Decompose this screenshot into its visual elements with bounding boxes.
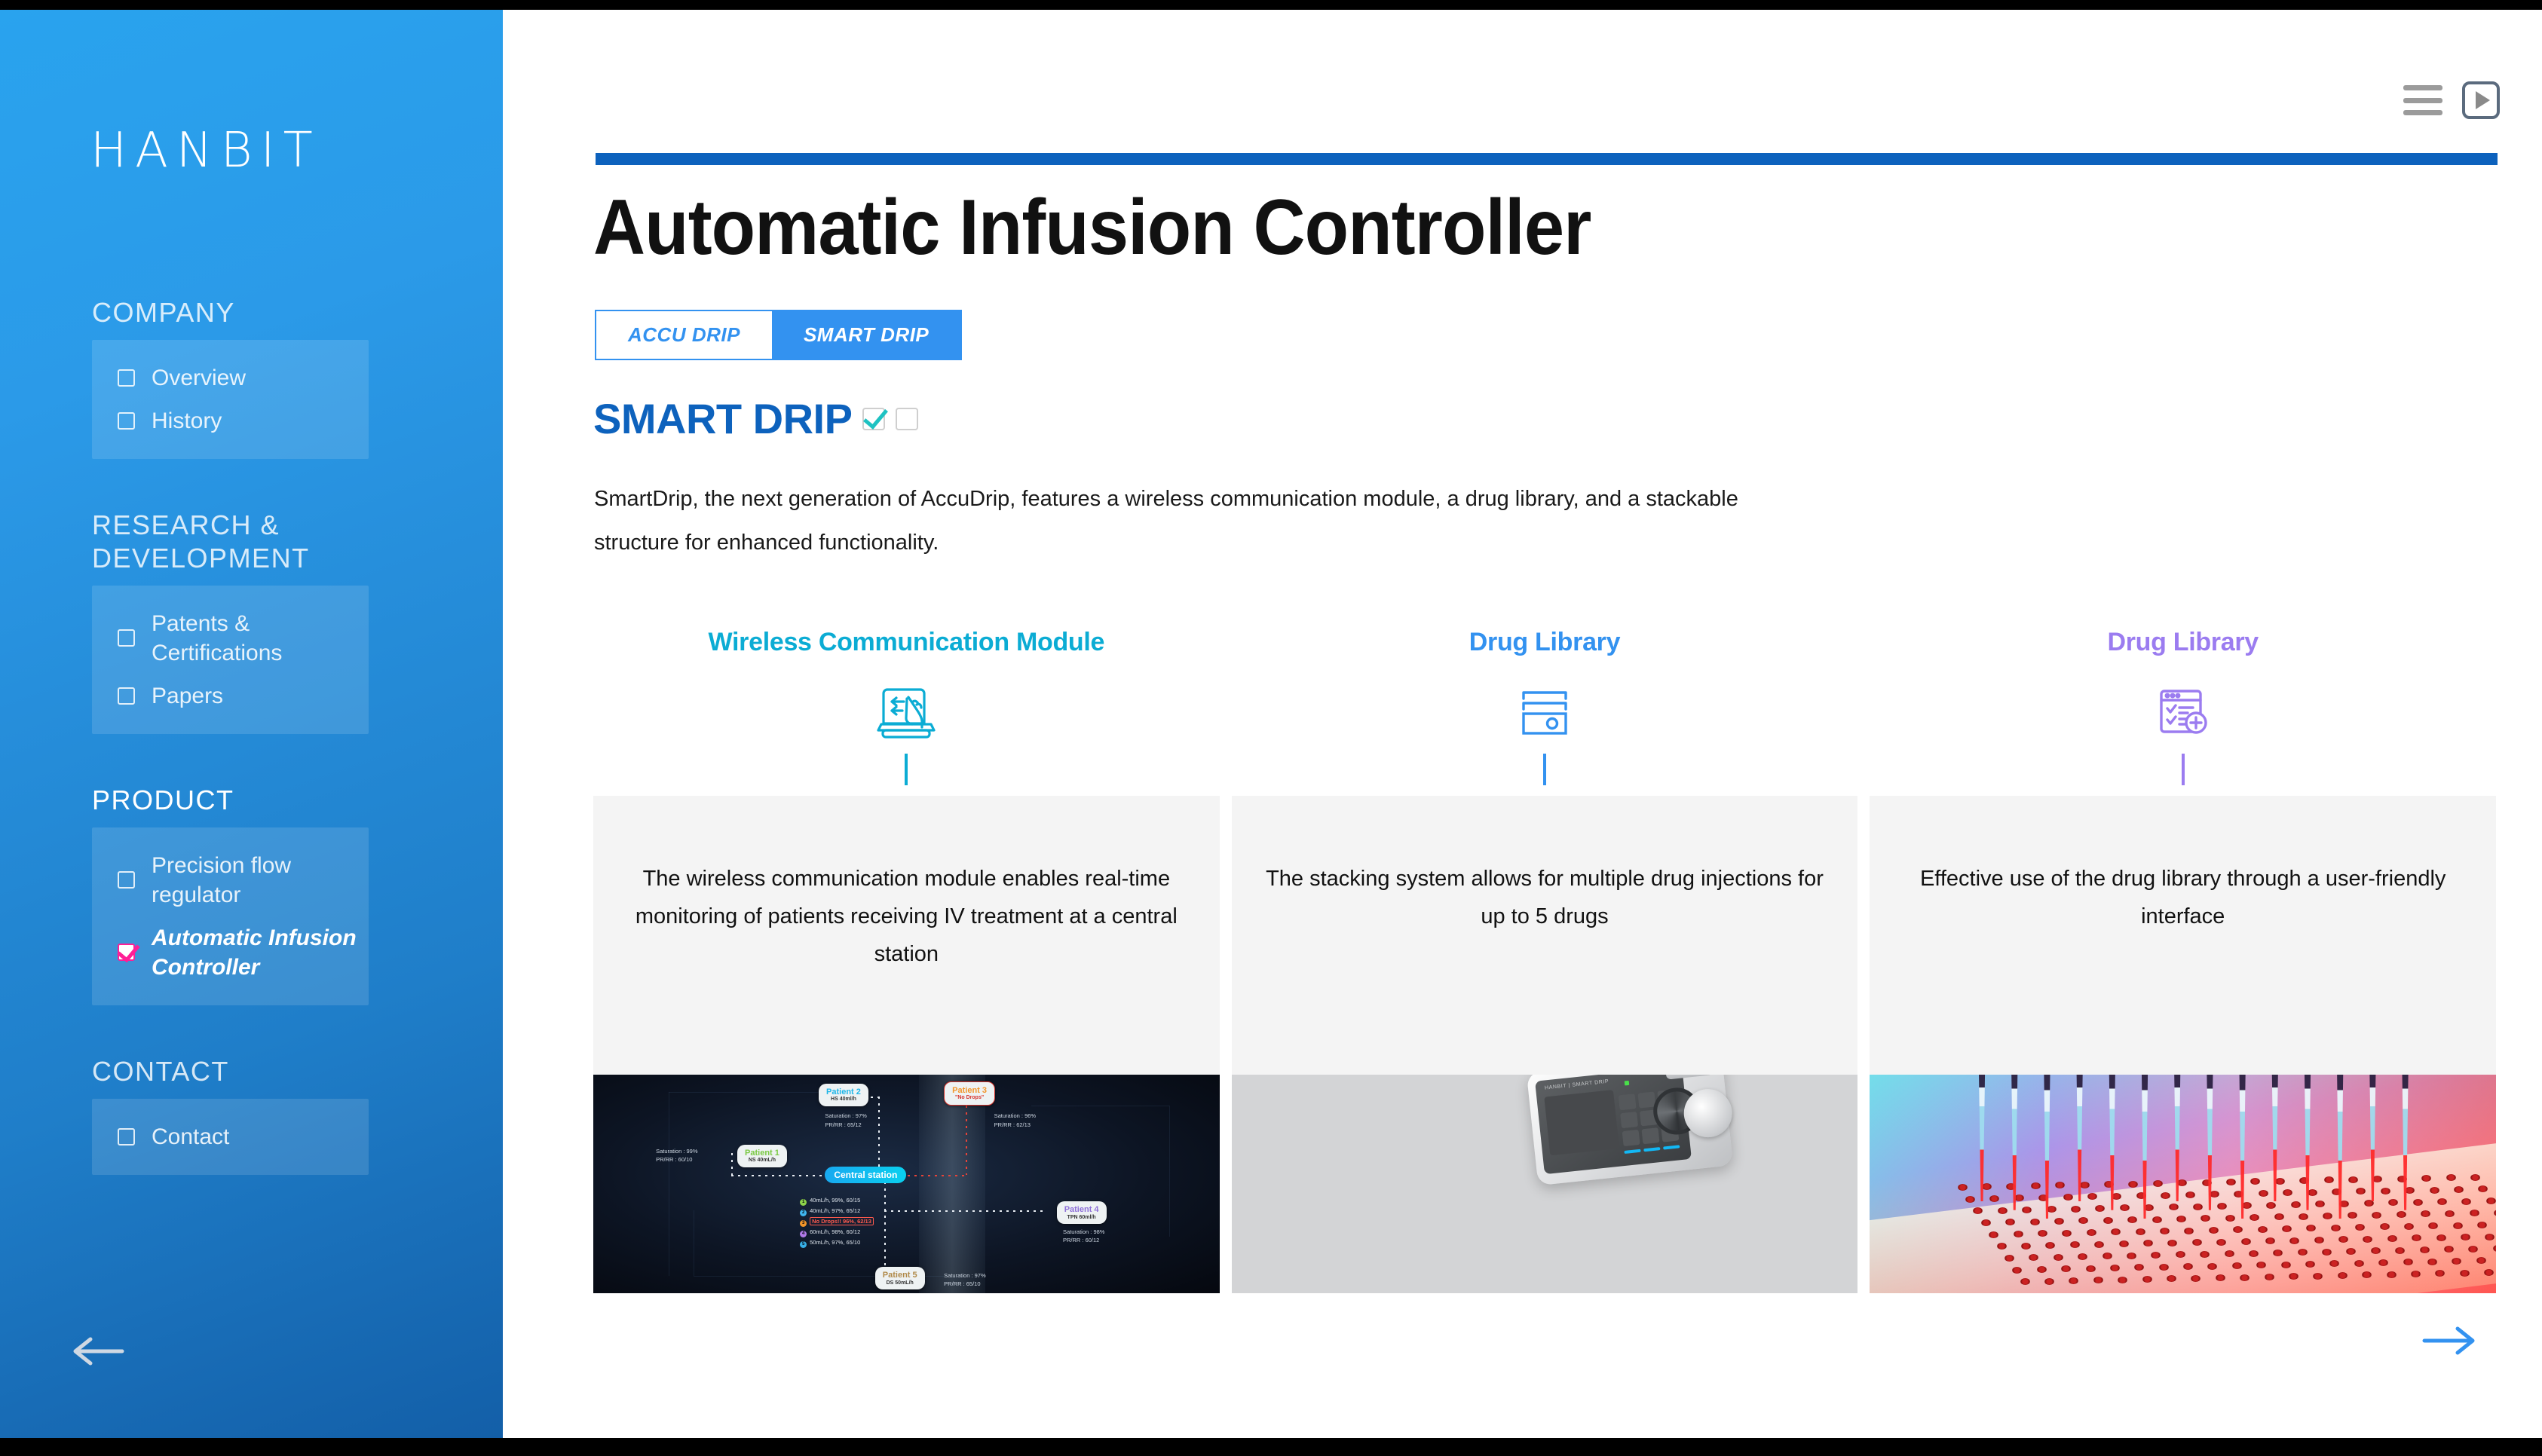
checkbox-checked-icon <box>118 944 135 961</box>
main-content: Automatic Infusion Controller ACCU DRIP … <box>503 10 2542 1438</box>
section-description: SmartDrip, the next generation of AccuDr… <box>594 477 1770 564</box>
sidebar-item-patents-certifications[interactable]: Patents & Certifications <box>92 602 369 674</box>
feature-title: Wireless Communication Module <box>709 628 1105 657</box>
sidebar-item-contact[interactable]: Contact <box>92 1115 369 1158</box>
sidebar-item-overview[interactable]: Overview <box>92 356 369 399</box>
nav-group-product: PRODUCT Precision flow regulator Automat… <box>0 784 503 1005</box>
section-title: SMART DRIP <box>593 394 852 443</box>
patient-node: Patient 1 NS 40mL/h <box>737 1145 787 1167</box>
feature-body: The wireless communication module enable… <box>593 796 1220 974</box>
section-header: SMART DRIP <box>593 394 918 443</box>
play-button-icon[interactable] <box>2462 81 2500 119</box>
connector-line <box>905 754 908 785</box>
stacked-infusion-devices-photo: HANBIT | SMART DRIP HANBIT | SMART DRIP <box>1232 1075 1858 1293</box>
sidebar-item-label: Automatic Infusion Controller <box>152 923 369 982</box>
checkbox-icon <box>896 408 918 430</box>
feature-column-drug-library: Drug Library Effective use of the drug l… <box>1870 628 2496 1293</box>
feature-body: Effective use of the drug library throug… <box>1870 796 2496 936</box>
nav-items-product: Precision flow regulator Automatic Infus… <box>92 827 369 1005</box>
product-tabs: ACCU DRIP SMART DRIP <box>595 310 962 360</box>
patient-node: Patient 2 HS 40ml/h <box>819 1084 868 1106</box>
sidebar-item-automatic-infusion-controller[interactable]: Automatic Infusion Controller <box>92 916 369 989</box>
stacked-layers-icon <box>1518 680 1572 743</box>
checkbox-icon <box>118 1128 135 1146</box>
feature-column-stacking: Drug Library The stacking system allows … <box>1232 628 1858 1293</box>
checkbox-icon <box>118 412 135 430</box>
slide-viewport: HANBIT COMPANY Overview History RES <box>0 0 2542 1456</box>
checkbox-icon <box>118 629 135 647</box>
title-accent-rule <box>596 153 2498 165</box>
feature-column-wireless: Wireless Communication Module <box>593 628 1220 1293</box>
nav-heading-company: COMPANY <box>0 296 503 340</box>
connector-line <box>2182 754 2185 785</box>
sidebar-item-history[interactable]: History <box>92 399 369 442</box>
nav-group-contact: CONTACT Contact <box>0 1055 503 1175</box>
checklist-add-icon <box>2154 680 2213 743</box>
laptop-touch-icon <box>874 680 939 743</box>
tab-smart-drip[interactable]: SMART DRIP <box>772 311 960 359</box>
hub-label: Central station <box>825 1167 906 1183</box>
nav-heading-contact: CONTACT <box>0 1055 503 1099</box>
checkbox-icon <box>118 687 135 705</box>
nav-items-contact: Contact <box>92 1099 369 1175</box>
nav-heading-product: PRODUCT <box>0 784 503 827</box>
brand-logo: HANBIT <box>90 123 321 179</box>
sidebar-item-label: History <box>152 406 222 436</box>
sidebar-item-label: Overview <box>152 363 246 393</box>
diagram-legend: 140mL/h, 99%, 60/15 240mL/h, 97%, 65/12 … <box>800 1195 874 1248</box>
top-toolbar <box>2403 81 2500 119</box>
sidebar: HANBIT COMPANY Overview History RES <box>0 10 503 1438</box>
checkbox-icon <box>118 369 135 387</box>
checkbox-checked-icon <box>862 408 885 430</box>
nav-items-company: Overview History <box>92 340 369 459</box>
feature-title: Drug Library <box>1469 628 1620 657</box>
feature-columns: Wireless Communication Module <box>593 628 2496 1293</box>
sidebar-item-precision-flow-regulator[interactable]: Precision flow regulator <box>92 844 369 916</box>
feature-card: The wireless communication module enable… <box>593 796 1220 1293</box>
central-station-network-diagram: Central station Patient 1 NS 40mL/h Satu… <box>593 1075 1220 1293</box>
hamburger-menu-icon[interactable] <box>2403 85 2442 115</box>
patient-node: Patient 3 "No Drops" <box>944 1081 995 1106</box>
patient-node: Patient 5 DS 50mL/h <box>875 1267 925 1289</box>
nav-heading-research: RESEARCH & DEVELOPMENT <box>0 509 503 586</box>
sidebar-item-label: Papers <box>152 681 223 711</box>
page-title: Automatic Infusion Controller <box>593 183 1591 273</box>
feature-body: The stacking system allows for multiple … <box>1232 796 1858 936</box>
patient-node: Patient 4 TPN 60ml/h <box>1057 1201 1107 1224</box>
feature-title: Drug Library <box>2107 628 2258 657</box>
nav-group-research: RESEARCH & DEVELOPMENT Patents & Certifi… <box>0 509 503 734</box>
checkbox-icon <box>118 871 135 889</box>
sidebar-item-label: Patents & Certifications <box>152 609 369 668</box>
tab-accu-drip[interactable]: ACCU DRIP <box>596 311 772 359</box>
arrow-right-icon[interactable] <box>2420 1325 2477 1357</box>
nav-group-company: COMPANY Overview History <box>0 296 503 459</box>
nav-items-research: Patents & Certifications Papers <box>92 586 369 734</box>
sidebar-item-label: Contact <box>152 1122 229 1152</box>
sidebar-item-papers[interactable]: Papers <box>92 674 369 717</box>
feature-card: Effective use of the drug library throug… <box>1870 796 2496 1293</box>
sidebar-item-label: Precision flow regulator <box>152 851 369 910</box>
connector-line <box>1543 754 1546 785</box>
feature-card: The stacking system allows for multiple … <box>1232 796 1858 1293</box>
multichannel-pipette-photo <box>1870 1075 2496 1293</box>
arrow-left-icon[interactable] <box>72 1336 127 1366</box>
sidebar-nav: COMPANY Overview History RESEARCH & DEVE… <box>0 296 503 1182</box>
